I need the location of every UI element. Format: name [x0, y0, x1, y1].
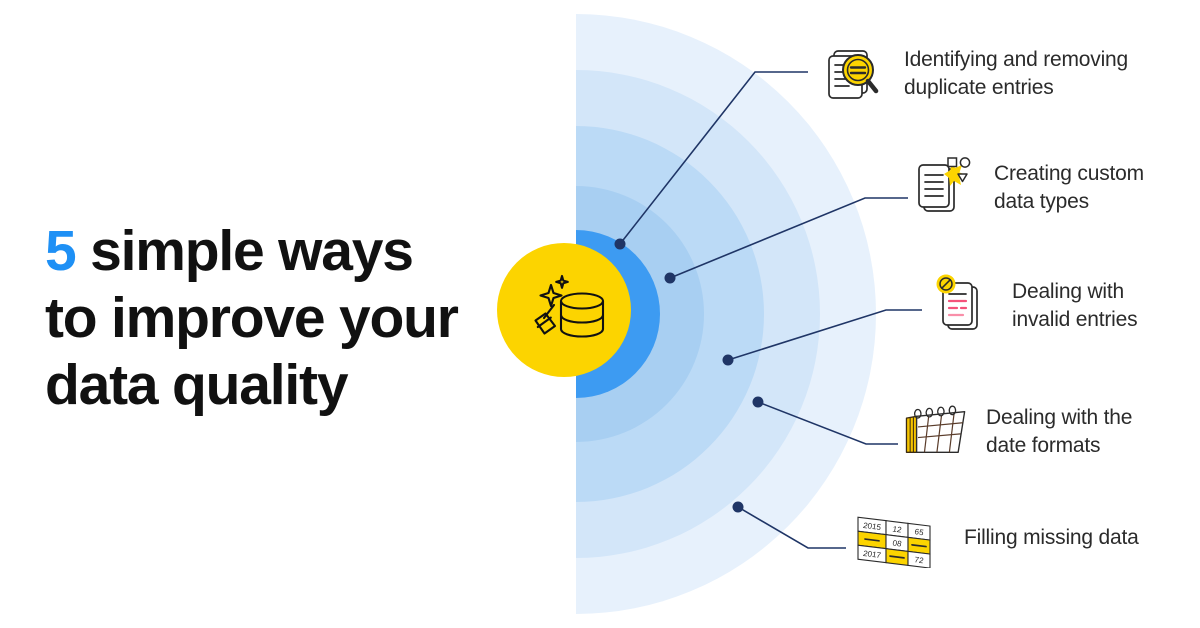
list-item-invalid-entries: Dealing with invalid entries: [926, 270, 1137, 342]
list-item-label: Creating custom data types: [994, 160, 1144, 216]
list-item-date-formats: Dealing with the date formats: [900, 396, 1132, 468]
list-item-label: Dealing with the date formats: [986, 404, 1132, 460]
headline-line3: data quality: [45, 353, 347, 417]
list-item-label: Identifying and removing duplicate entri…: [904, 46, 1128, 102]
headline-line2: to improve your: [45, 286, 458, 350]
cell-r1c2: 12: [893, 524, 902, 534]
list-item-label: Filling missing data: [964, 524, 1139, 552]
list-item-duplicates: Identifying and removing duplicate entri…: [818, 38, 1128, 110]
broom-and-database-icon: [522, 268, 606, 352]
document-magnifier-duplicate-icon: [818, 38, 890, 110]
list-item-custom-data-types: Creating custom data types: [908, 152, 1144, 224]
list-item-missing-data: 2015 12 65 08 2017 72 Filling missing da…: [848, 506, 1139, 570]
data-table-missing-cells-icon: 2015 12 65 08 2017 72: [848, 506, 948, 570]
page-title: 5 simple ways to improve your data quali…: [45, 218, 515, 419]
document-shapes-custom-types-icon: [908, 152, 980, 224]
calendar-icon: [900, 396, 972, 468]
cell-r3c3: 72: [915, 555, 924, 565]
headline-number: 5: [45, 219, 76, 283]
document-prohibited-invalid-icon: [926, 270, 998, 342]
cell-r1c3: 65: [915, 527, 924, 537]
list-item-label: Dealing with invalid entries: [1012, 278, 1137, 334]
cell-r2c2: 08: [893, 538, 902, 548]
headline-line1: simple ways: [76, 219, 413, 283]
center-badge: [497, 243, 631, 377]
infographic-canvas: 5 simple ways to improve your data quali…: [0, 0, 1200, 628]
